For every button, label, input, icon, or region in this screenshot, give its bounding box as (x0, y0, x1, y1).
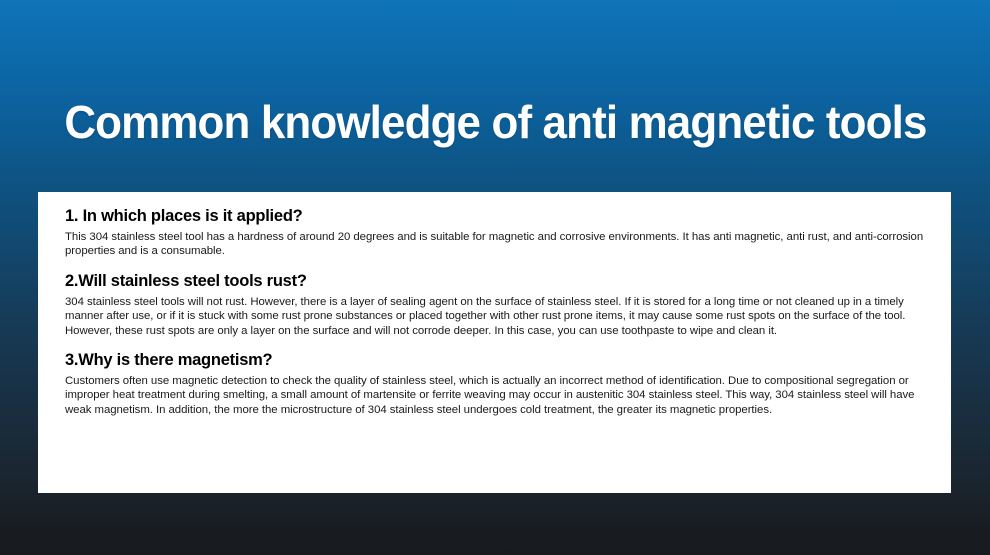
qa-section-2: 2.Will stainless steel tools rust? 304 s… (65, 271, 933, 338)
page-title: Common knowledge of anti magnetic tools (64, 95, 926, 149)
qa-body-3: Customers often use magnetic detection t… (65, 374, 933, 417)
qa-section-1: 1. In which places is it applied? This 3… (65, 206, 933, 259)
qa-heading-1: 1. In which places is it applied? (65, 206, 933, 226)
qa-body-2: 304 stainless steel tools will not rust.… (65, 295, 933, 338)
qa-heading-2: 2.Will stainless steel tools rust? (65, 271, 933, 291)
qa-section-3: 3.Why is there magnetism? Customers ofte… (65, 350, 933, 417)
slide-canvas: Common knowledge of anti magnetic tools … (0, 0, 990, 555)
title-area: Common knowledge of anti magnetic tools (0, 64, 990, 180)
content-card: 1. In which places is it applied? This 3… (38, 192, 951, 493)
qa-body-1: This 304 stainless steel tool has a hard… (65, 230, 933, 259)
qa-heading-3: 3.Why is there magnetism? (65, 350, 933, 370)
